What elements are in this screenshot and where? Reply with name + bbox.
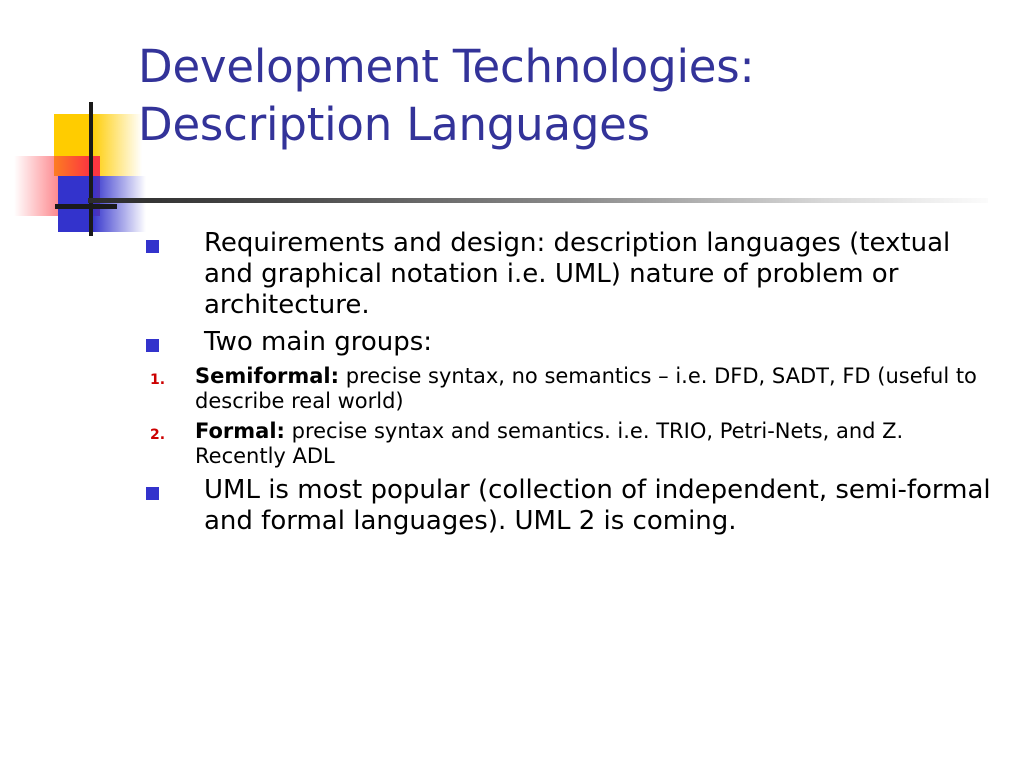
numbered-list-item: 1. Semiformal: precise syntax, no semant… — [140, 364, 1000, 414]
title-divider — [88, 198, 988, 203]
bullet-marker — [140, 228, 204, 253]
list-item-text: UML is most popular (collection of indep… — [204, 475, 1000, 537]
page-title: Development Technologies: Description La… — [138, 38, 998, 154]
decoration-yellow-square — [54, 114, 142, 176]
slide: Development Technologies: Description La… — [0, 0, 1024, 768]
numbered-list-item-text: Formal: precise syntax and semantics. i.… — [195, 419, 1000, 469]
numbered-list-item-text: Semiformal: precise syntax, no semantics… — [195, 364, 1000, 414]
slide-body: Requirements and design: description lan… — [140, 228, 1000, 543]
decoration-red-square — [14, 156, 100, 216]
list-number-marker: 1. — [140, 364, 195, 388]
square-bullet-icon — [146, 487, 159, 500]
square-bullet-icon — [146, 339, 159, 352]
numbered-list-item-lead: Formal: — [195, 419, 285, 443]
bullet-marker — [140, 327, 204, 352]
list-item-text: Two main groups: — [204, 327, 1000, 358]
numbered-list-item: 2. Formal: precise syntax and semantics.… — [140, 419, 1000, 469]
list-item: Requirements and design: description lan… — [140, 228, 1000, 321]
numbered-list-item-lead: Semiformal: — [195, 364, 339, 388]
list-item: Two main groups: — [140, 327, 1000, 358]
list-item: UML is most popular (collection of indep… — [140, 475, 1000, 537]
list-number-marker: 2. — [140, 419, 195, 443]
numbered-list-item-body: precise syntax and semantics. i.e. TRIO,… — [195, 419, 903, 468]
decoration-blue-square — [58, 176, 146, 232]
decoration-vertical-line — [89, 102, 93, 236]
list-item-text: Requirements and design: description lan… — [204, 228, 1000, 321]
square-bullet-icon — [146, 240, 159, 253]
decoration-horizontal-line — [55, 204, 117, 209]
bullet-marker — [140, 475, 204, 500]
numbered-sub-list: 1. Semiformal: precise syntax, no semant… — [140, 364, 1000, 469]
